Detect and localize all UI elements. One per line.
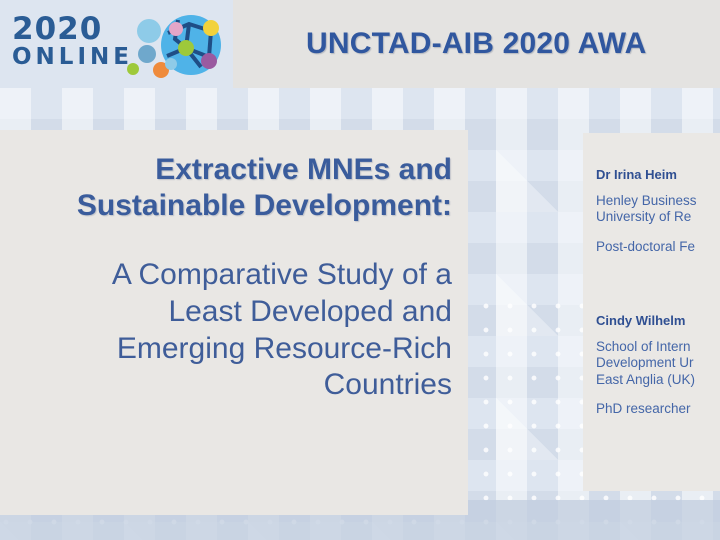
author-entry: Cindy Wilhelm School of Intern Developme… <box>596 313 720 416</box>
author-role: PhD researcher <box>596 401 720 416</box>
main-title-line-1: Extractive MNEs and <box>155 153 452 186</box>
author-affiliation-line-2: Development Ur <box>596 355 694 370</box>
logo-online-text: ONLINE <box>12 44 133 70</box>
author-name: Cindy Wilhelm <box>596 313 720 328</box>
author-affiliation-line-3: East Anglia (UK) <box>596 372 695 387</box>
header-title: UNCTAD-AIB 2020 AWA <box>233 27 647 61</box>
author-affiliation-line-1: Henley Business <box>596 193 697 208</box>
author-affiliation-line-1: School of Intern <box>596 339 691 354</box>
main-title-line-2: Sustainable Development: <box>77 189 452 222</box>
conference-logo: 2020 ONLINE <box>0 0 233 88</box>
logo-year-text: 2020 <box>12 14 133 44</box>
author-entry: Dr Irina Heim Henley Business University… <box>596 167 720 254</box>
title-panel: Extractive MNEs and Sustainable Developm… <box>0 130 468 515</box>
subtitle: A Comparative Study of a Least Developed… <box>0 223 452 403</box>
author-name: Dr Irina Heim <box>596 167 720 182</box>
subtitle-line-1: A Comparative Study of a <box>112 258 452 291</box>
author-affiliation: School of Intern Development Ur East Ang… <box>596 339 720 388</box>
author-affiliation-line-2: University of Re <box>596 209 691 224</box>
title-block: Extractive MNEs and Sustainable Developm… <box>0 152 460 404</box>
subtitle-line-3: Emerging Resource-Rich <box>117 332 452 365</box>
network-globe-icon <box>123 7 228 86</box>
logo-wordmark: 2020 ONLINE <box>12 14 133 70</box>
subtitle-line-4: Countries <box>324 368 452 401</box>
presentation-slide: UNCTAD-AIB 2020 AWA 2020 ONLINE <box>0 0 720 540</box>
subtitle-line-2: Least Developed and <box>168 295 452 328</box>
main-title: Extractive MNEs and Sustainable Developm… <box>0 152 452 223</box>
author-role: Post-doctoral Fe <box>596 239 720 254</box>
authors-panel: Dr Irina Heim Henley Business University… <box>583 133 720 491</box>
author-affiliation: Henley Business University of Re <box>596 193 720 226</box>
header-banner: UNCTAD-AIB 2020 AWA <box>233 0 720 88</box>
